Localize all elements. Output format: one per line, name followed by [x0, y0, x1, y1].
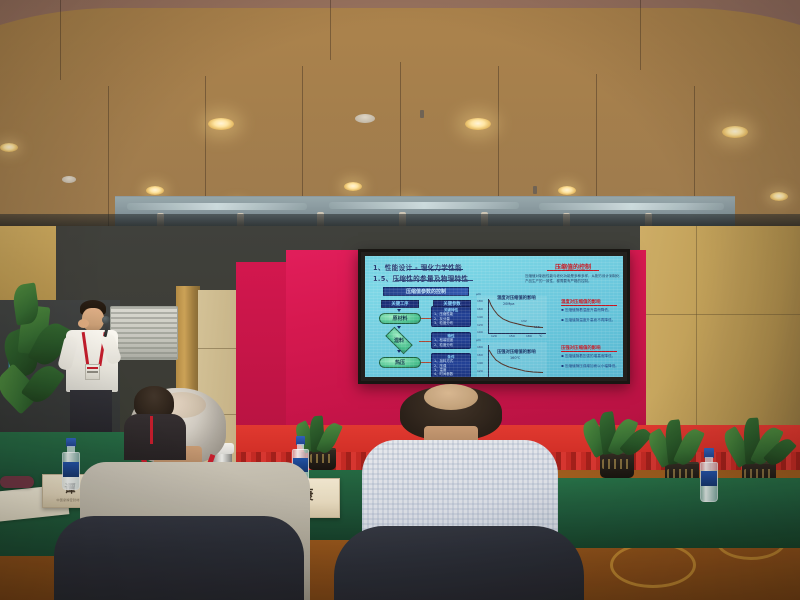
led-screen[interactable]: 1、性能设计 - 理化力学性能 1.5、压缩性的参量及物理特性 压缩值参数的控制… [358, 249, 630, 384]
ceiling-seam [60, 0, 61, 80]
ceiling-downlight [344, 182, 362, 191]
audience-member-front-right [352, 386, 582, 600]
speaker-hand [78, 319, 89, 328]
audience-chair-back [334, 526, 584, 600]
section-bullet: ▪ 压缩值随着压强的增高而降低。 [561, 354, 623, 359]
flowchart-header: 压缩值参数的控制 [383, 287, 469, 296]
conference-photo-scene: 1、性能设计 - 理化力学性能 1.5、压缩性的参量及物理特性 压缩值参数的控制… [0, 0, 800, 600]
audience-chair-back [54, 516, 304, 600]
desk-item [0, 476, 34, 488]
coffer-light-strip [539, 203, 724, 210]
ceiling-downlight [770, 192, 788, 201]
ceiling-seam [640, 0, 641, 70]
ceiling-downlight [722, 126, 748, 138]
coffer-light-strip [127, 203, 307, 210]
flowchart-params-hot-press: 条件 1、加料方式 2、压强 3、温度 4、时间参数 [431, 353, 471, 377]
audience-member-background [120, 386, 190, 456]
presentation-slide: 1、性能设计 - 理化力学性能 1.5、压缩性的参量及物理特性 压缩值参数的控制… [365, 256, 623, 377]
flowchart-params-mixing: 特性 1、松装密度 2、粒度分布 [431, 332, 471, 349]
chart-temperature-effect: 温度对压缩值的影响 20Mpa μm 180 160 140 120 100 1… [477, 296, 547, 338]
chart1-xtick: 150 [509, 334, 515, 338]
chart1-xtick: 120 [491, 334, 497, 338]
chart-pressure-effect: 压强对压缩值的影响 160℃ μm 180 160 140 120 100 15… [477, 342, 547, 377]
slide-right-paragraph: 压缩值对制品性能与老化功能是多种多样，从配方设计到制化产品生产的一致性，都需要有… [525, 274, 621, 283]
slide-title-line-2: 1.5、压缩性的参量及物理特性 [373, 273, 468, 283]
flowchart-params-raw-material: 关键特性 1、压缩性能 2、灰分量 3、粒度分布 [431, 306, 471, 327]
led-screen-display: 1、性能设计 - 理化力学性能 1.5、压缩性的参量及物理特性 压缩值参数的控制… [365, 256, 623, 377]
sprinkler-icon [533, 186, 537, 194]
smoke-detector-icon [355, 114, 375, 123]
sprinkler-icon [420, 110, 424, 118]
section-bullet: ▪ 压缩值随压强增加而以小幅降低。 [561, 364, 623, 369]
ceiling-downlight [558, 186, 576, 195]
flowchart-node-hot-press: 热压 [379, 357, 421, 368]
section-bullet: ▪ 压缩值随温度升高而不再降低。 [561, 318, 623, 323]
ceiling [0, 0, 800, 232]
ceiling-downlight [146, 186, 164, 195]
carpet-motif [610, 542, 696, 588]
slide-title-line-1: 1、性能设计 - 理化力学性能 [373, 262, 462, 272]
flowchart-node-raw-material: 原材料 [379, 313, 421, 324]
audience-lanyard [150, 416, 153, 444]
chart2-series-line [477, 342, 547, 377]
audience-scalp [424, 384, 478, 410]
chart1-xtick: 180 [526, 334, 532, 338]
plant-pot [600, 452, 634, 478]
chart1-annotation: 115 [534, 325, 540, 329]
water-bottle[interactable] [62, 438, 80, 490]
flowchart-col-left: 关键工序 [381, 300, 419, 308]
chart1-series-line [477, 296, 547, 338]
chart1-xlabel: ℃ [539, 334, 542, 338]
ceiling-downlight [465, 118, 491, 130]
coffer-light-strip [329, 202, 519, 209]
ceiling-seam [330, 0, 331, 60]
smoke-detector-icon [62, 176, 76, 183]
ceiling-downlight [208, 118, 234, 130]
ceiling-downlight [0, 143, 18, 152]
chart1-annotation: 132 [521, 319, 527, 323]
section-bullet: ▪ 压缩值随着温度升高而降低。 [561, 308, 623, 313]
speaker-badge [85, 364, 100, 380]
audience-torso [124, 414, 186, 460]
water-bottle[interactable] [700, 448, 718, 502]
